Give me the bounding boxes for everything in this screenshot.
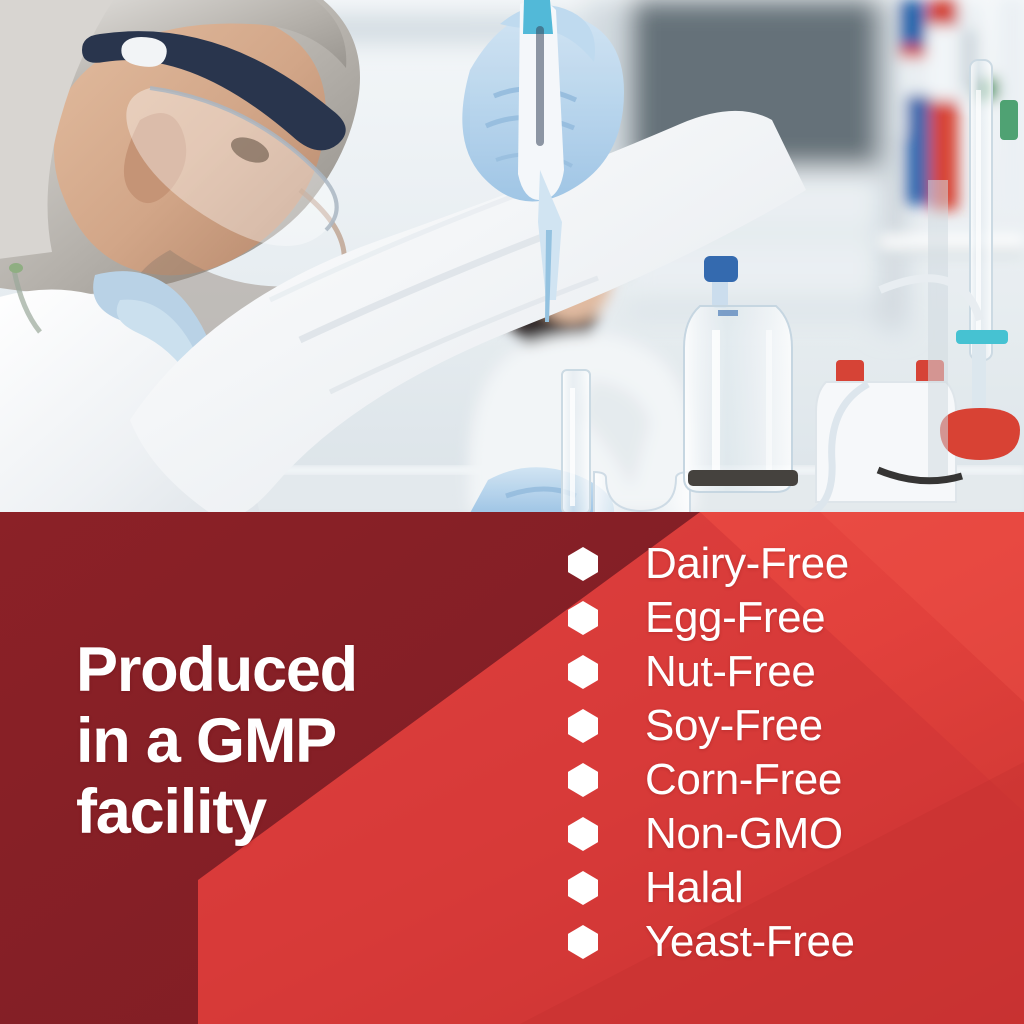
hexagon-bullet-icon <box>568 601 598 635</box>
headline-line-3: facility <box>76 777 506 848</box>
feature-label: Non-GMO <box>645 812 843 856</box>
feature-label: Corn-Free <box>645 758 842 802</box>
list-item: Soy-Free <box>568 699 855 753</box>
promo-graphic: Produced in a GMP facility Dairy-Free Eg… <box>0 0 1024 1024</box>
hexagon-bullet-icon <box>568 763 598 797</box>
list-item: Corn-Free <box>568 753 855 807</box>
hexagon-bullet-icon <box>568 655 598 689</box>
feature-label: Dairy-Free <box>645 542 849 586</box>
hexagon-bullet-icon <box>568 547 598 581</box>
list-item: Egg-Free <box>568 591 855 645</box>
list-item: Non-GMO <box>568 807 855 861</box>
list-item: Nut-Free <box>568 645 855 699</box>
lab-photo-illustration <box>0 0 1024 513</box>
lab-photo <box>0 0 1024 513</box>
list-item: Halal <box>568 861 855 915</box>
hexagon-bullet-icon <box>568 871 598 905</box>
hexagon-bullet-icon <box>568 925 598 959</box>
headline-line-1: Produced <box>76 635 506 706</box>
feature-label: Halal <box>645 866 743 910</box>
headline-line-2: in a GMP <box>76 706 506 777</box>
feature-label: Egg-Free <box>645 596 825 640</box>
feature-label: Soy-Free <box>645 704 823 748</box>
hexagon-bullet-icon <box>568 709 598 743</box>
feature-label: Nut-Free <box>645 650 815 694</box>
hexagon-bullet-icon <box>568 817 598 851</box>
list-item: Dairy-Free <box>568 537 855 591</box>
feature-list: Dairy-Free Egg-Free Nut-Free Soy-Free Co… <box>568 537 855 969</box>
feature-label: Yeast-Free <box>645 920 855 964</box>
list-item: Yeast-Free <box>568 915 855 969</box>
page-title: Produced in a GMP facility <box>76 635 506 848</box>
